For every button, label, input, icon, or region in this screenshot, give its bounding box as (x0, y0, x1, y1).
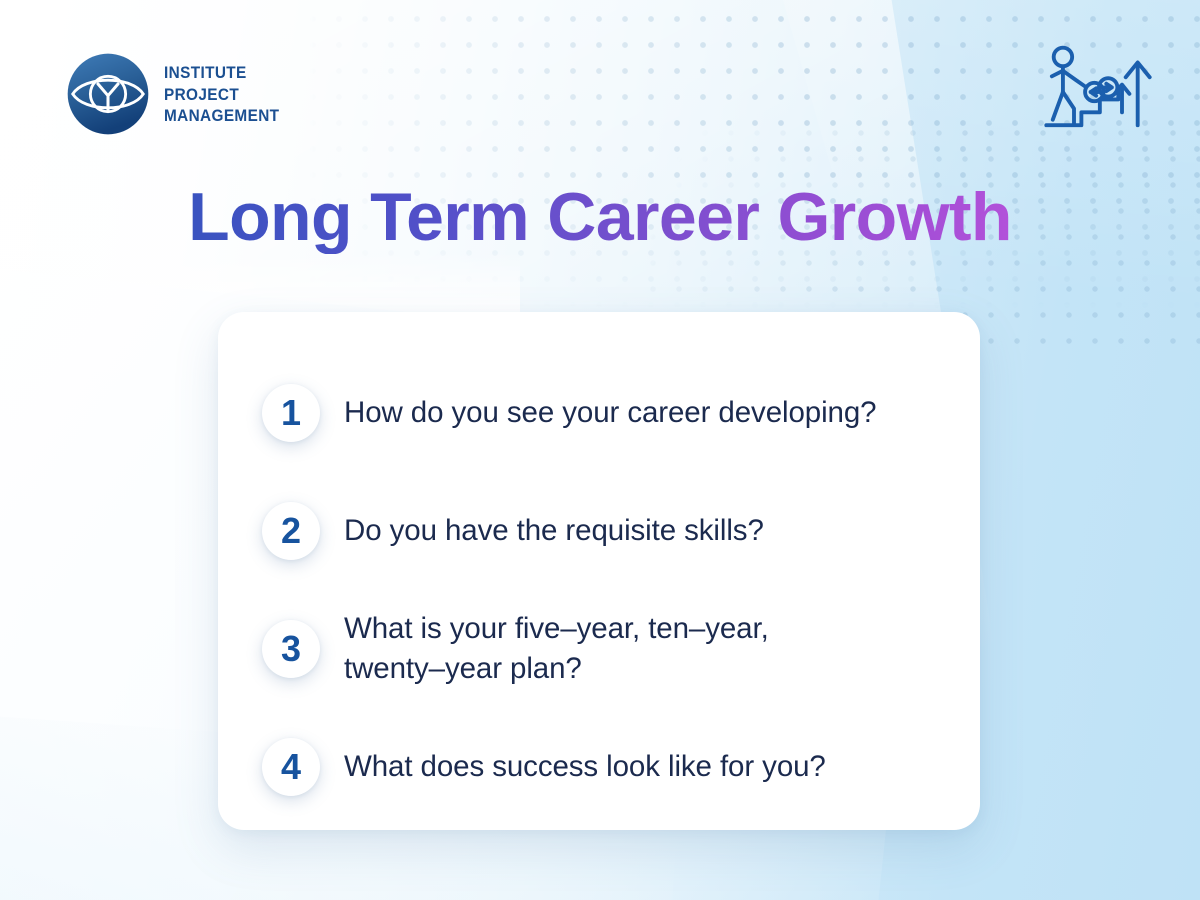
list-item[interactable]: 4 What does success look like for you? (262, 708, 932, 826)
slide-canvas: INSTITUTE PROJECT MANAGEMENT (0, 0, 1200, 900)
question-text: How do you see your career developing? (344, 393, 876, 433)
number-badge: 2 (262, 502, 320, 560)
number-badge: 4 (262, 738, 320, 796)
number-badge-label: 4 (281, 749, 301, 785)
brand-line-2: PROJECT (164, 86, 279, 105)
question-line-2: twenty–year plan? (344, 649, 769, 689)
brand-line-3: MANAGEMENT (164, 107, 279, 126)
questions-list: 1 How do you see your career developing?… (218, 312, 980, 830)
header: INSTITUTE PROJECT MANAGEMENT (0, 0, 1200, 160)
number-badge: 3 (262, 620, 320, 678)
question-line-1: Do you have the requisite skills? (344, 514, 764, 547)
question-text: What does success look like for you? (344, 747, 826, 787)
page-title: Long Term Career Growth (0, 181, 1200, 254)
brand-wordmark: INSTITUTE PROJECT MANAGEMENT (164, 62, 288, 126)
question-line-1: What does success look like for you? (344, 750, 826, 783)
brand-logo: INSTITUTE PROJECT MANAGEMENT (66, 52, 288, 136)
number-badge-label: 3 (281, 631, 301, 667)
number-badge: 1 (262, 384, 320, 442)
question-line-1: How do you see your career developing? (344, 396, 876, 429)
list-item[interactable]: 1 How do you see your career developing? (262, 354, 932, 472)
ipm-eye-logo-icon (66, 52, 150, 136)
question-text: What is your five–year, ten–year, twenty… (344, 609, 769, 689)
number-badge-label: 2 (281, 513, 301, 549)
career-growth-stairs-icon (1042, 44, 1154, 140)
number-badge-label: 1 (281, 395, 301, 431)
list-item[interactable]: 3 What is your five–year, ten–year, twen… (262, 590, 932, 708)
list-item[interactable]: 2 Do you have the requisite skills? (262, 472, 932, 590)
questions-card: 1 How do you see your career developing?… (218, 312, 980, 830)
question-text: Do you have the requisite skills? (344, 511, 764, 551)
brand-line-1: INSTITUTE (164, 64, 279, 83)
question-line-1: What is your five–year, ten–year, (344, 609, 769, 649)
